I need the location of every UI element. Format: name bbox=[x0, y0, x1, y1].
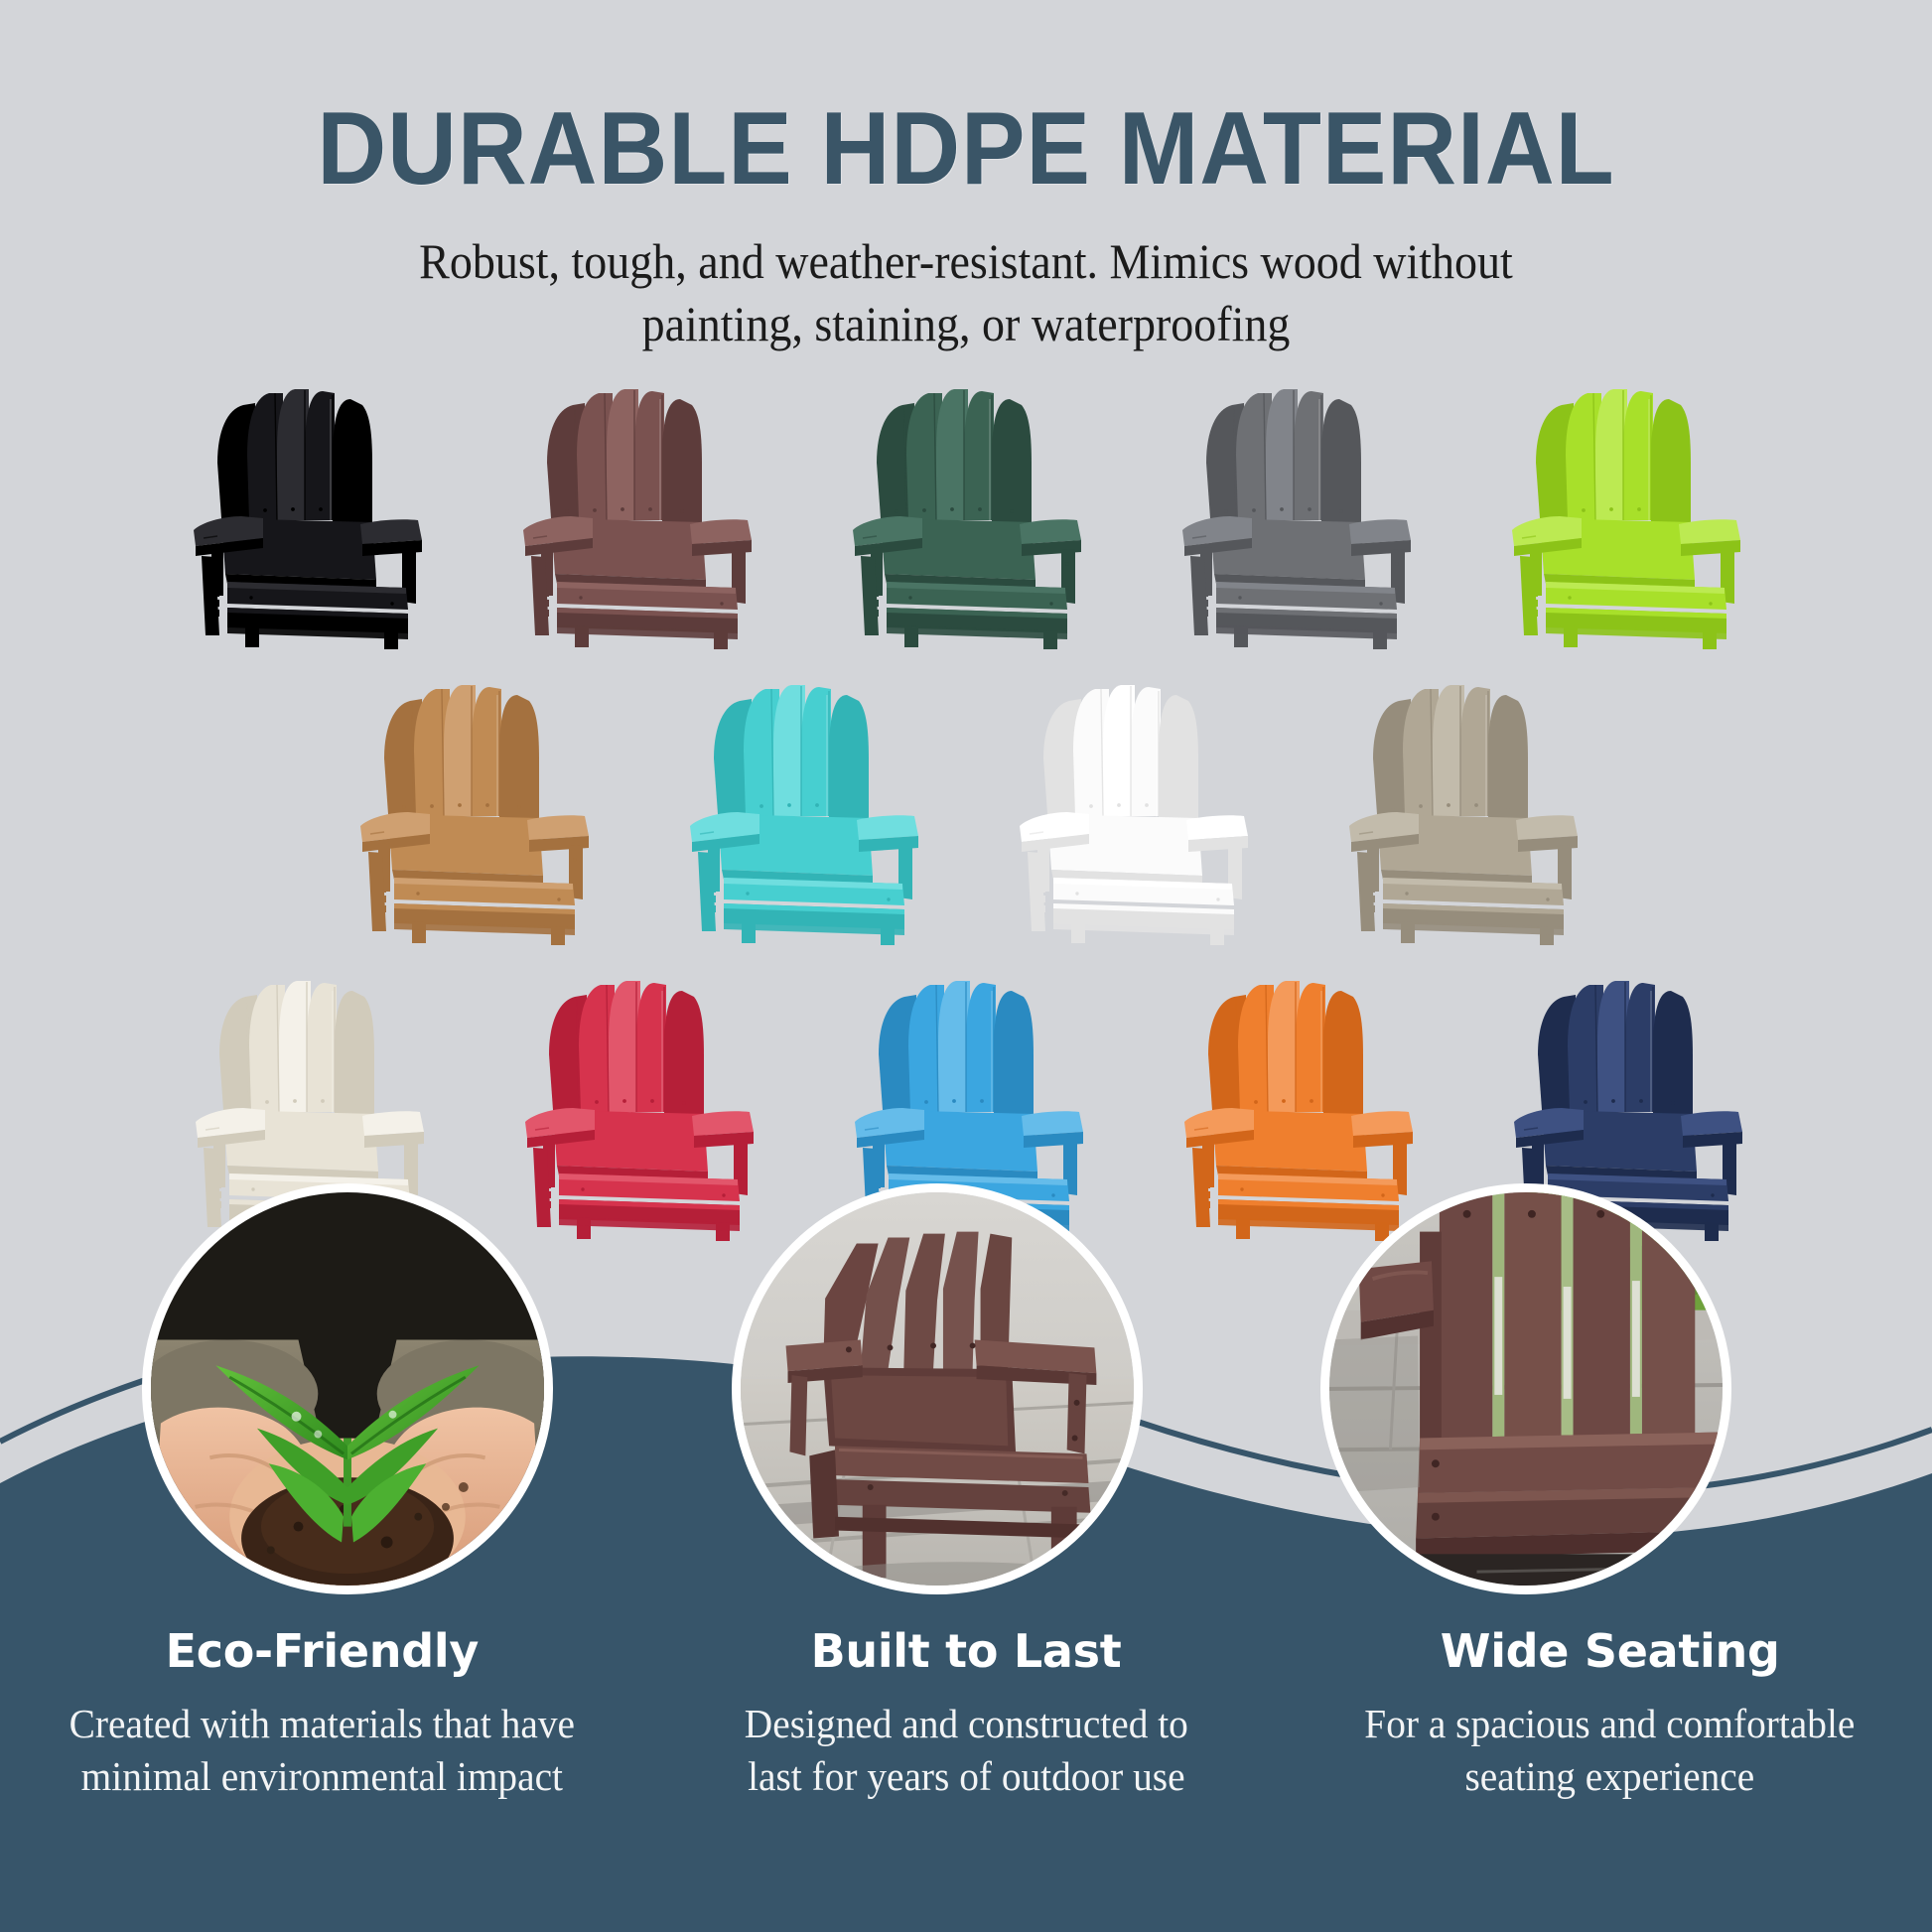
chair-seat bbox=[227, 582, 408, 633]
feature-body-line-1: Designed and constructed to bbox=[682, 1698, 1251, 1750]
chair-back-slats bbox=[384, 685, 539, 818]
subtitle-line-2: painting, staining, or waterproofing bbox=[77, 293, 1855, 355]
chair-back-slats bbox=[1538, 981, 1693, 1114]
chair-black bbox=[172, 369, 438, 649]
feature-body: Created with materials that have minimal… bbox=[38, 1698, 607, 1804]
page-title: DURABLE HDPE MATERIAL bbox=[68, 97, 1864, 201]
feature-body-line-2: last for years of outdoor use bbox=[682, 1750, 1251, 1803]
feature-photo-wide-seating bbox=[1320, 1183, 1731, 1594]
subtitle-line-1: Robust, tough, and weather-resistant. Mi… bbox=[77, 230, 1855, 293]
chair-back-slats bbox=[547, 389, 702, 522]
chair-back-slats bbox=[879, 981, 1034, 1114]
chair-cell[interactable] bbox=[1161, 369, 1427, 649]
chair-back-slats bbox=[1206, 389, 1361, 522]
feature-body-line-1: For a spacious and comfortable bbox=[1325, 1698, 1894, 1750]
chair-teak bbox=[339, 665, 605, 945]
chair-cell[interactable] bbox=[339, 665, 605, 945]
chair-gray taupe bbox=[1327, 665, 1593, 945]
feature-photo-row bbox=[0, 1183, 1932, 1610]
chair-row-1 bbox=[0, 369, 1932, 649]
chair-back-slats bbox=[714, 685, 869, 818]
chair-seat bbox=[1383, 878, 1564, 929]
chair-back-slats bbox=[1373, 685, 1528, 818]
chair-white bbox=[998, 665, 1264, 945]
chair-color-grid bbox=[0, 369, 1932, 1241]
chair-lime green bbox=[1490, 369, 1756, 649]
chair-cell[interactable] bbox=[1490, 369, 1756, 649]
infographic-page: DURABLE HDPE MATERIAL Robust, tough, and… bbox=[0, 0, 1932, 1932]
chair-seat bbox=[394, 878, 575, 929]
chair-seat bbox=[1546, 582, 1726, 633]
chair-seat bbox=[557, 582, 738, 633]
feature-body-line-2: seating experience bbox=[1325, 1750, 1894, 1803]
chair-back-slats bbox=[219, 981, 374, 1114]
feature-heading: Eco-Friendly bbox=[26, 1624, 619, 1678]
chair-back-slats bbox=[877, 389, 1032, 522]
chair-turquoise bbox=[668, 665, 934, 945]
chair-cell[interactable] bbox=[501, 369, 767, 649]
chair-cell[interactable] bbox=[831, 369, 1097, 649]
chair-seat bbox=[1053, 878, 1234, 929]
feature-body-line-1: Created with materials that have bbox=[38, 1698, 607, 1750]
chair-seat bbox=[724, 878, 904, 929]
chair-cell[interactable] bbox=[1327, 665, 1593, 945]
chair-seat bbox=[1216, 582, 1397, 633]
feature-photo-built-to-last bbox=[732, 1183, 1143, 1594]
feature-heading: Wide Seating bbox=[1313, 1624, 1906, 1678]
brown-adirondack-chair-on-patio-photo bbox=[741, 1192, 1134, 1586]
chair-cell[interactable] bbox=[172, 369, 438, 649]
feature-body-line-2: minimal environmental impact bbox=[38, 1750, 607, 1803]
chair-brown bbox=[501, 369, 767, 649]
chair-back-slats bbox=[1536, 389, 1691, 522]
chair-gray bbox=[1161, 369, 1427, 649]
feature-body: For a spacious and comfortable seating e… bbox=[1325, 1698, 1894, 1804]
chair-back-slats bbox=[217, 389, 372, 522]
chair-row-2 bbox=[0, 665, 1932, 945]
feature-text-row: Eco-Friendly Created with materials that… bbox=[0, 1624, 1932, 1804]
feature-column-wide-seating: Wide Seating For a spacious and comforta… bbox=[1288, 1624, 1932, 1804]
hands-holding-seedling-photo bbox=[151, 1192, 544, 1586]
page-subtitle: Robust, tough, and weather-resistant. Mi… bbox=[77, 230, 1855, 355]
feature-column-built-to-last: Built to Last Designed and constructed t… bbox=[644, 1624, 1289, 1804]
chair-back-slats bbox=[549, 981, 704, 1114]
feature-body: Designed and constructed to last for yea… bbox=[682, 1698, 1251, 1804]
chair-cell[interactable] bbox=[998, 665, 1264, 945]
brown-chair-wide-seat-closeup-photo bbox=[1329, 1192, 1723, 1586]
chair-cell[interactable] bbox=[668, 665, 934, 945]
chair-seat bbox=[887, 582, 1067, 633]
feature-heading: Built to Last bbox=[670, 1624, 1263, 1678]
header: DURABLE HDPE MATERIAL Robust, tough, and… bbox=[0, 0, 1932, 355]
feature-column-eco-friendly: Eco-Friendly Created with materials that… bbox=[0, 1624, 644, 1804]
chair-back-slats bbox=[1043, 685, 1198, 818]
feature-photo-eco-friendly bbox=[142, 1183, 553, 1594]
chair-back-slats bbox=[1208, 981, 1363, 1114]
chair-dark green bbox=[831, 369, 1097, 649]
